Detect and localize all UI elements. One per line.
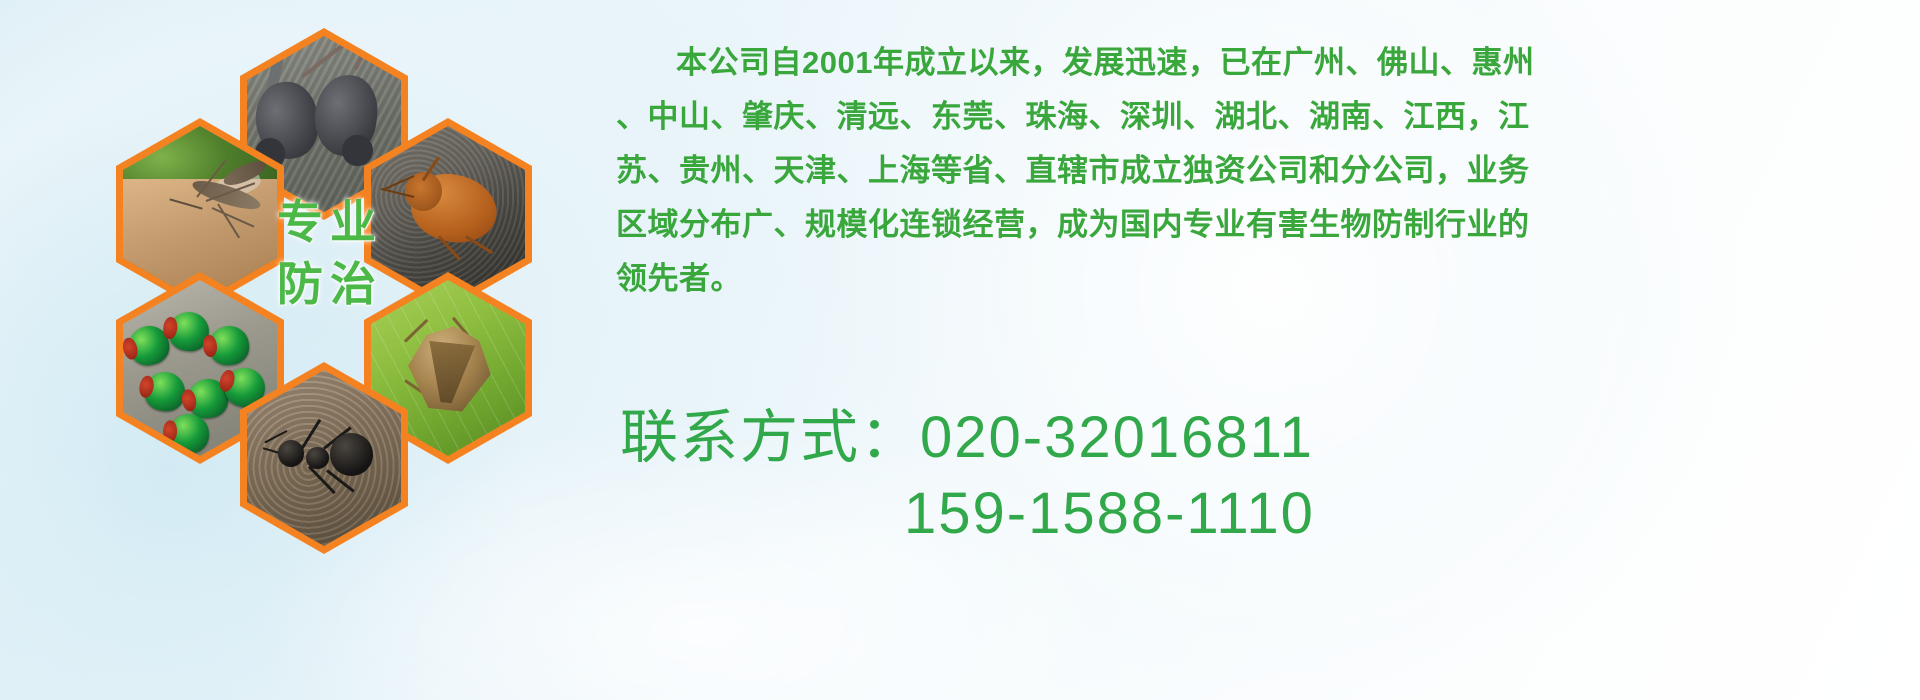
description-line-2: 、中山、肇庆、清远、东莞、珠海、深圳、湖北、湖南、江西，江: [616, 90, 1886, 144]
description-line-5: 领先者。: [616, 252, 1886, 306]
description-line-1: 本公司自2001年成立以来，发展迅速，已在广州、佛山、惠州: [616, 36, 1886, 90]
ant-abdomen: [330, 433, 373, 475]
company-description: 本公司自2001年成立以来，发展迅速，已在广州、佛山、惠州 、中山、肇庆、清远、…: [616, 36, 1886, 306]
fly-7: [169, 413, 210, 453]
promo-banner: 专业 防治 本公司自2001年成立以来，发展迅速，已在广州、佛山、惠州 、中山、…: [0, 0, 1920, 700]
description-line-4: 区域分布广、规模化连锁经营，成为国内专业有害生物防制行业的: [616, 198, 1886, 252]
ant-thorax: [306, 447, 329, 468]
contact-line-secondary[interactable]: 159-1588-1110: [620, 476, 1900, 552]
ant-photo: [247, 370, 401, 546]
hex-inner-ant: [247, 370, 401, 546]
slogan-overlay: 专业 防治: [250, 192, 410, 315]
slogan-line-1: 专业: [250, 192, 410, 254]
ant-head: [278, 440, 304, 466]
contact-line-primary[interactable]: 联系方式：020-32016811: [620, 400, 1900, 476]
slogan-line-2: 防治: [250, 254, 410, 316]
contact-block: 联系方式：020-32016811 159-1588-1110: [620, 400, 1900, 552]
description-line-3: 苏、贵州、天津、上海等省、直辖市成立独资公司和分公司，业务: [616, 144, 1886, 198]
fly-4: [141, 368, 187, 413]
fly-3: [207, 324, 251, 367]
